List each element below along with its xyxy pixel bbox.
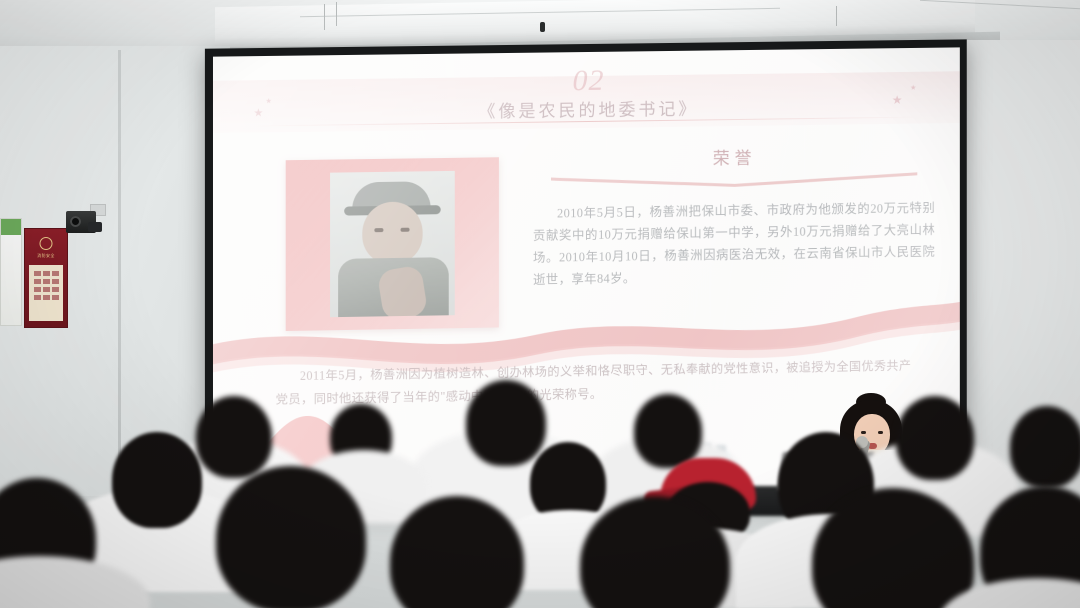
slide-body-paragraph: 2010年5月5日，杨善洲把保山市委、市政府为他颁发的20万元特别贡献奖中的10…	[533, 197, 935, 291]
body-text: 2010年5月5日，杨善洲把保山市委、市政府为他颁发的20万元特别贡献奖中的10…	[533, 201, 935, 287]
star-icon-left: ★	[253, 106, 263, 119]
audience-head-back-2	[466, 380, 546, 466]
ceiling-wire-3	[836, 6, 837, 26]
audience-area	[0, 378, 1080, 608]
section-number: 02	[572, 64, 604, 98]
safety-notice-poster	[0, 218, 22, 326]
star-icon-right-small: ★	[910, 84, 916, 92]
ceiling-fixture	[540, 22, 545, 32]
star-icon-right: ★	[892, 93, 903, 107]
audience-head-mid-1	[112, 432, 202, 528]
audience-head-back-4	[896, 396, 974, 480]
poster-body	[29, 265, 63, 321]
poster-title: 消防安全	[25, 253, 67, 259]
section-title: 《像是农民的地委书记》	[478, 95, 698, 123]
poster-header-band	[1, 219, 21, 235]
lecture-hall-scene: 消防安全 ★ ★ ★ ★ 02	[0, 0, 1080, 608]
star-icon-left-small: ★	[266, 97, 272, 105]
audience-head-back-3	[634, 394, 702, 468]
portrait-eye-right	[401, 228, 410, 232]
poster-seal-icon	[40, 237, 53, 250]
portrait-photo	[330, 171, 455, 317]
audience-head-back-6	[1010, 406, 1080, 488]
ceiling-wire-2	[336, 2, 337, 26]
slide-heading: 荣誉	[713, 144, 757, 170]
portrait-eye-left	[374, 228, 383, 232]
slide-heading-group: 荣誉	[545, 141, 923, 190]
ceiling-wire	[324, 4, 325, 30]
audience-head-front-2	[216, 466, 366, 608]
heading-swoosh-icon	[551, 171, 917, 190]
fire-safety-poster: 消防安全	[24, 228, 68, 328]
camera-sensor-icon	[88, 222, 102, 232]
portrait-figure	[330, 171, 455, 317]
audience-head-back-1	[196, 396, 272, 478]
slide-header-band: ★ ★ ★ ★ 02 《像是农民的地委书记》	[213, 71, 960, 133]
portrait-face	[362, 201, 422, 264]
